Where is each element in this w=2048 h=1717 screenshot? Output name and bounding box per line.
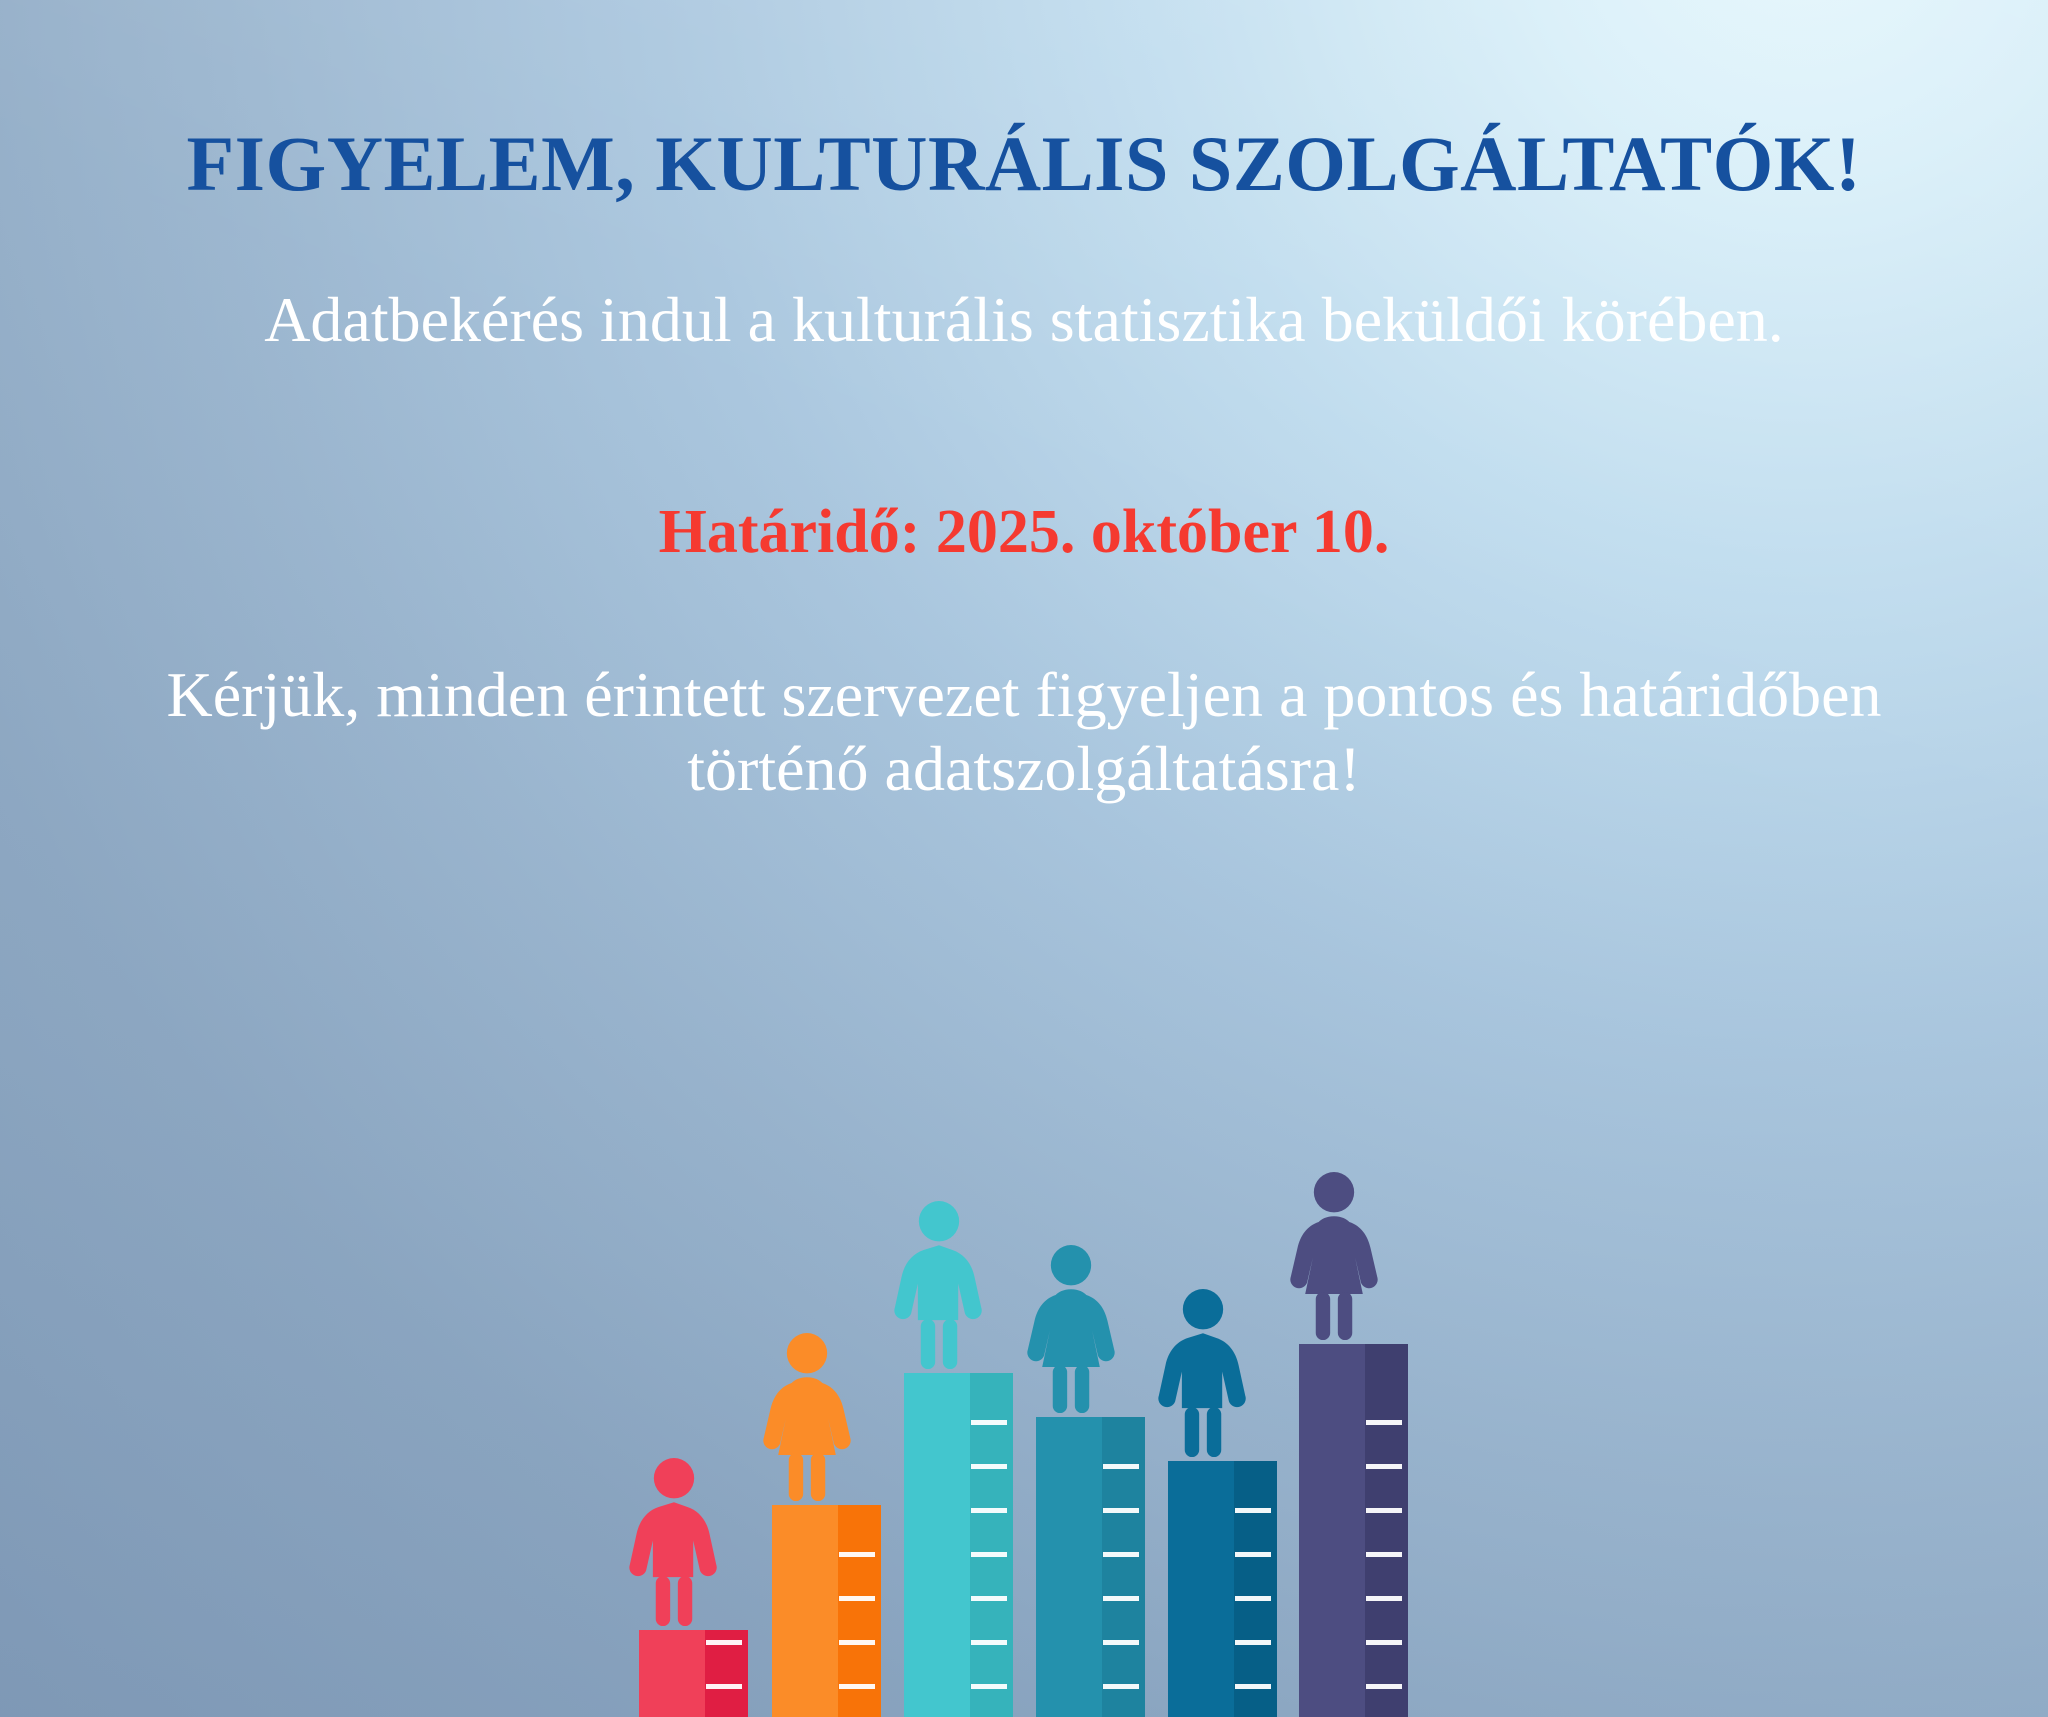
bar-tick-mark: [1366, 1640, 1402, 1645]
bar-face: [1168, 1461, 1234, 1717]
bar-tick-mark: [1103, 1640, 1139, 1645]
bar-tick-mark: [706, 1684, 742, 1689]
chart-person-female-icon: [759, 1332, 855, 1505]
bar-chart-illustration: [0, 0, 2048, 1717]
bar-face: [1299, 1344, 1365, 1717]
bar-tick-mark: [971, 1596, 1007, 1601]
chart-bar: [904, 1373, 1013, 1717]
bar-tick-mark: [1235, 1640, 1271, 1645]
bar-tick-mark: [1103, 1552, 1139, 1557]
chart-bar: [1299, 1344, 1408, 1717]
bar-tick-mark: [1366, 1464, 1402, 1469]
bar-tick-mark: [971, 1420, 1007, 1425]
chart-bar: [772, 1505, 881, 1717]
bar-tick-mark: [1235, 1596, 1271, 1601]
bar-tick-mark: [1235, 1508, 1271, 1513]
bar-tick-mark: [1103, 1596, 1139, 1601]
bar-tick-mark: [1103, 1684, 1139, 1689]
chart-person-female-icon: [1023, 1244, 1119, 1417]
bar-tick-mark: [1103, 1464, 1139, 1469]
bar-tick-mark: [706, 1640, 742, 1645]
bar-tick-mark: [839, 1684, 875, 1689]
bar-tick-mark: [971, 1464, 1007, 1469]
bar-face: [639, 1630, 705, 1717]
chart-bar: [1168, 1461, 1277, 1717]
bar-side: [1365, 1344, 1408, 1717]
bar-tick-mark: [839, 1596, 875, 1601]
chart-person-male-icon: [626, 1457, 722, 1630]
bar-tick-mark: [1366, 1508, 1402, 1513]
chart-bar: [1036, 1417, 1145, 1717]
bar-side: [1102, 1417, 1145, 1717]
bar-tick-mark: [971, 1640, 1007, 1645]
bar-tick-mark: [839, 1640, 875, 1645]
bar-tick-mark: [1366, 1420, 1402, 1425]
bar-face: [1036, 1417, 1102, 1717]
bar-tick-mark: [839, 1552, 875, 1557]
poster-canvas: FIGYELEM, KULTURÁLIS SZOLGÁLTATÓK! Adatb…: [0, 0, 2048, 1717]
chart-person-male-icon: [1155, 1288, 1251, 1461]
bar-tick-mark: [971, 1508, 1007, 1513]
bar-tick-mark: [1103, 1508, 1139, 1513]
bar-tick-mark: [1235, 1684, 1271, 1689]
bar-tick-mark: [1366, 1552, 1402, 1557]
bar-side: [705, 1630, 748, 1717]
bar-side: [838, 1505, 881, 1717]
chart-person-female-icon: [1286, 1171, 1382, 1344]
bar-tick-mark: [1235, 1552, 1271, 1557]
bar-face: [772, 1505, 838, 1717]
bar-face: [904, 1373, 970, 1717]
chart-bar: [639, 1630, 748, 1717]
bar-side: [970, 1373, 1013, 1717]
chart-person-male-icon: [891, 1200, 987, 1373]
bar-tick-mark: [1366, 1684, 1402, 1689]
bar-tick-mark: [971, 1684, 1007, 1689]
bar-side: [1234, 1461, 1277, 1717]
bar-tick-mark: [971, 1552, 1007, 1557]
bar-tick-mark: [1366, 1596, 1402, 1601]
